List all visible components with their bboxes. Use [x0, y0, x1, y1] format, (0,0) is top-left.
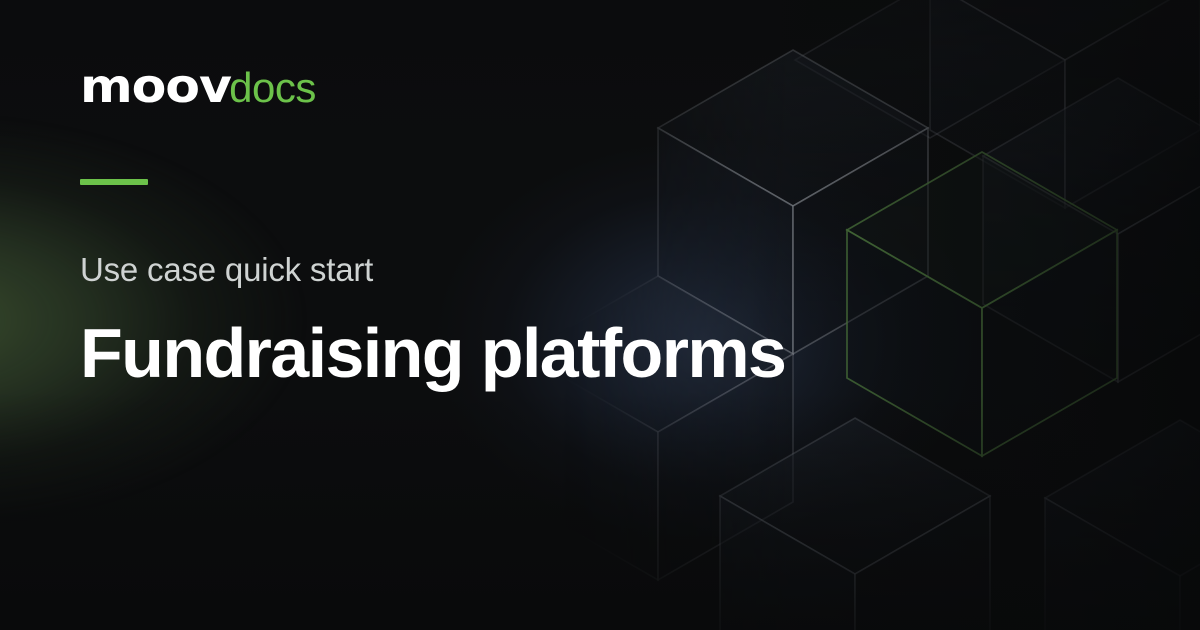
hero-content: moov docs Use case quick start Fundraisi… — [80, 0, 940, 630]
og-card: moov docs Use case quick start Fundraisi… — [0, 0, 1200, 630]
brand-logo-mark: moov — [80, 63, 231, 109]
brand-logo[interactable]: moov docs — [80, 63, 316, 117]
page-title: Fundraising platforms — [80, 316, 785, 392]
brand-logo-word: docs — [229, 67, 316, 109]
eyebrow-label: Use case quick start — [80, 252, 373, 288]
accent-rule-icon — [80, 179, 148, 185]
